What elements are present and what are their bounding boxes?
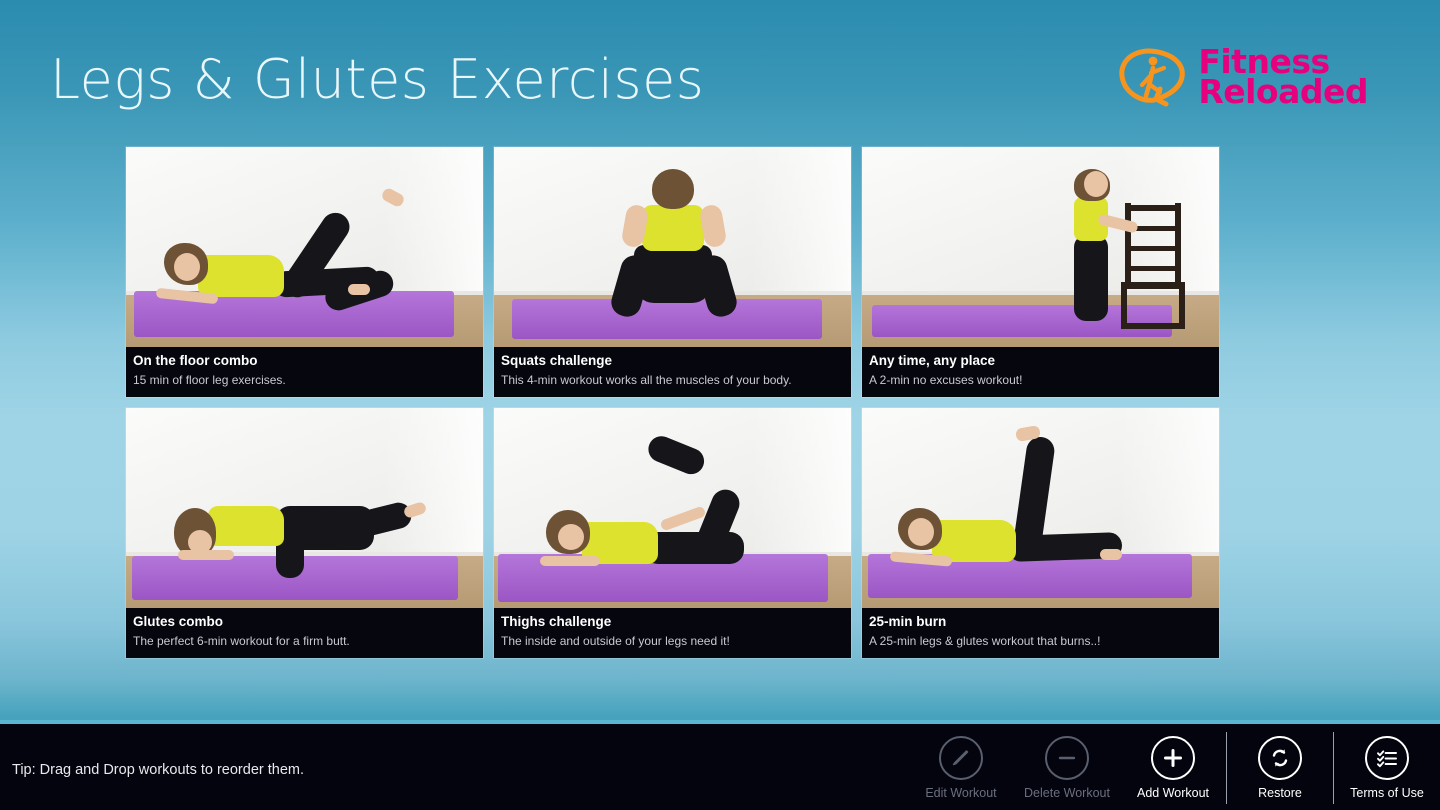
workout-tile-grid: On the floor combo 15 min of floor leg e… — [126, 147, 1220, 658]
edit-workout-label: Edit Workout — [925, 786, 996, 800]
workout-caption: Glutes combo The perfect 6-min workout f… — [126, 608, 483, 658]
page-header: Legs & Glutes Exercises Fitness Reloaded — [0, 0, 1440, 140]
workout-tile[interactable]: Squats challenge This 4-min workout work… — [494, 147, 851, 397]
minus-icon — [1045, 736, 1089, 780]
workout-subtitle: This 4-min workout works all the muscles… — [501, 371, 844, 389]
logo-line-2: Reloaded — [1198, 77, 1368, 107]
add-workout-label: Add Workout — [1137, 786, 1209, 800]
refresh-icon — [1258, 736, 1302, 780]
app-bar-commands: Edit Workout Delete Workout — [908, 724, 1440, 810]
workout-thumbnail — [126, 408, 483, 608]
workout-caption: Squats challenge This 4-min workout work… — [494, 347, 851, 397]
plus-icon — [1151, 736, 1195, 780]
delete-workout-label: Delete Workout — [1024, 786, 1110, 800]
pencil-icon — [939, 736, 983, 780]
app-root: Legs & Glutes Exercises Fitness Reloaded — [0, 0, 1440, 810]
workout-tile[interactable]: Glutes combo The perfect 6-min workout f… — [126, 408, 483, 658]
workout-subtitle: 15 min of floor leg exercises. — [133, 371, 476, 389]
workout-title: Any time, any place — [869, 351, 1212, 371]
workout-subtitle: A 2-min no excuses workout! — [869, 371, 1212, 389]
workout-subtitle: The inside and outside of your legs need… — [501, 632, 844, 650]
restore-button[interactable]: Restore — [1227, 724, 1333, 810]
page-title: Legs & Glutes Exercises — [50, 48, 704, 111]
workout-caption: Thighs challenge The inside and outside … — [494, 608, 851, 658]
fitness-reloaded-swirl-logo-icon — [1116, 44, 1190, 110]
terms-of-use-button[interactable]: Terms of Use — [1334, 724, 1440, 810]
tip-text: Tip: Drag and Drop workouts to reorder t… — [12, 762, 304, 778]
workout-tile[interactable]: Thighs challenge The inside and outside … — [494, 408, 851, 658]
workout-caption: On the floor combo 15 min of floor leg e… — [126, 347, 483, 397]
workout-title: Thighs challenge — [501, 612, 844, 632]
workout-caption: 25-min burn A 25-min legs & glutes worko… — [862, 608, 1219, 658]
workout-title: Squats challenge — [501, 351, 844, 371]
workout-caption: Any time, any place A 2-min no excuses w… — [862, 347, 1219, 397]
workout-thumbnail — [494, 147, 851, 347]
workout-subtitle: The perfect 6-min workout for a firm but… — [133, 632, 476, 650]
terms-of-use-label: Terms of Use — [1350, 786, 1424, 800]
workout-title: Glutes combo — [133, 612, 476, 632]
bottom-app-bar: Tip: Drag and Drop workouts to reorder t… — [0, 720, 1440, 810]
workout-title: 25-min burn — [869, 612, 1212, 632]
workout-title: On the floor combo — [133, 351, 476, 371]
add-workout-button[interactable]: Add Workout — [1120, 724, 1226, 810]
workout-tile[interactable]: Any time, any place A 2-min no excuses w… — [862, 147, 1219, 397]
edit-workout-button[interactable]: Edit Workout — [908, 724, 1014, 810]
workout-thumbnail — [494, 408, 851, 608]
checklist-icon — [1365, 736, 1409, 780]
restore-label: Restore — [1258, 786, 1302, 800]
workout-thumbnail — [126, 147, 483, 347]
delete-workout-button[interactable]: Delete Workout — [1014, 724, 1120, 810]
logo-wordmark: Fitness Reloaded — [1198, 47, 1368, 108]
workout-thumbnail — [862, 147, 1219, 347]
workout-tile[interactable]: On the floor combo 15 min of floor leg e… — [126, 147, 483, 397]
workout-tile[interactable]: 25-min burn A 25-min legs & glutes worko… — [862, 408, 1219, 658]
workout-thumbnail — [862, 408, 1219, 608]
workout-subtitle: A 25-min legs & glutes workout that burn… — [869, 632, 1212, 650]
app-logo: Fitness Reloaded — [1116, 44, 1368, 110]
